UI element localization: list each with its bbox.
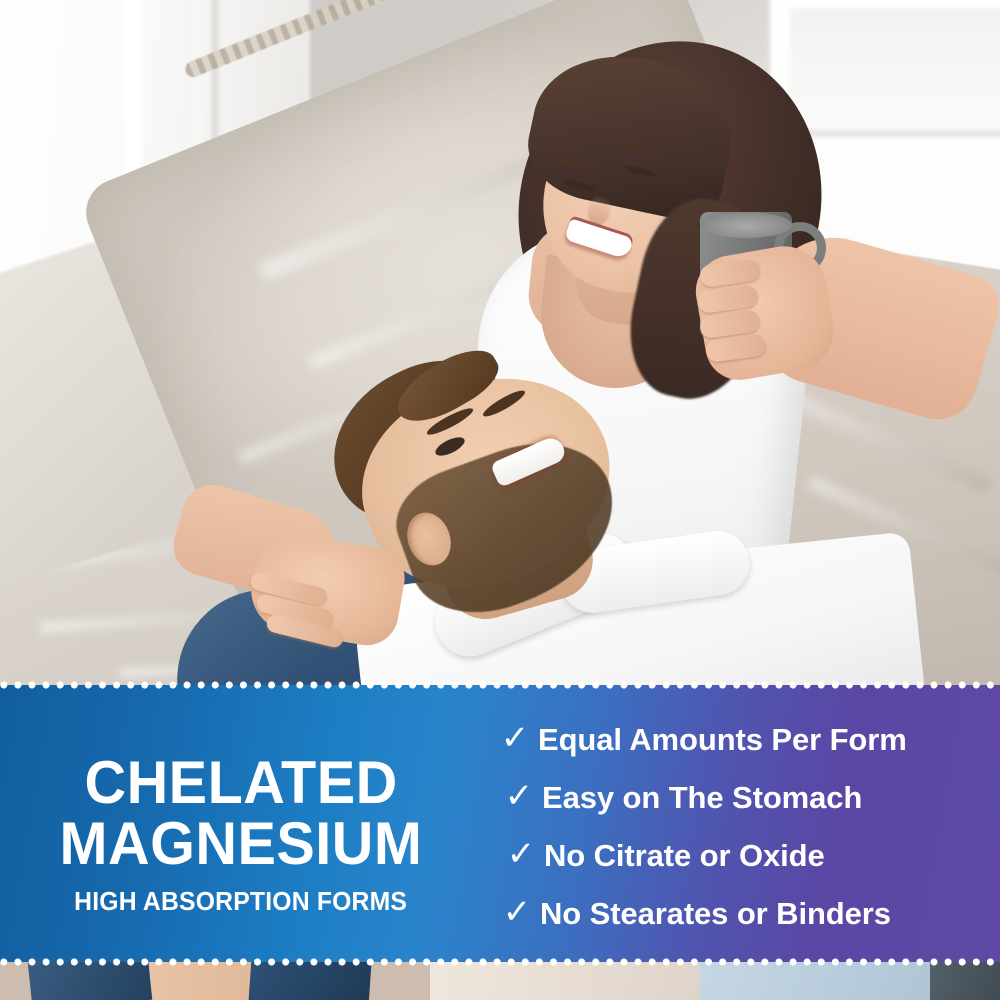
window-right-header xyxy=(790,8,1000,137)
product-title-line-2: MAGNESIUM xyxy=(60,813,423,874)
product-banner-image: CHELATED MAGNESIUM HIGH ABSORPTION FORMS… xyxy=(0,0,1000,1000)
benefit-item: ✓ Equal Amounts Per Form xyxy=(482,711,994,769)
checkmark-icon: ✓ xyxy=(494,895,540,929)
benefit-label: No Citrate or Oxide xyxy=(544,838,825,874)
benefit-label: Equal Amounts Per Form xyxy=(538,722,907,758)
benefit-item: ✓ Easy on The Stomach xyxy=(482,769,994,827)
checkmark-icon: ✓ xyxy=(498,837,544,871)
strip-jeans xyxy=(248,962,371,1000)
strip-light-jeans xyxy=(700,962,950,1000)
benefit-item: ✓ No Stearates or Binders xyxy=(482,885,994,943)
checkmark-icon: ✓ xyxy=(496,779,542,813)
product-title-line-1: CHELATED xyxy=(84,752,397,813)
headline-block: CHELATED MAGNESIUM HIGH ABSORPTION FORMS xyxy=(0,685,482,962)
strip-dark-fabric xyxy=(930,962,1000,1000)
product-subtitle: HIGH ABSORPTION FORMS xyxy=(75,888,408,917)
benefits-list: ✓ Equal Amounts Per Form ✓ Easy on The S… xyxy=(482,685,1000,962)
checkmark-icon: ✓ xyxy=(492,721,538,755)
strip-jeans xyxy=(28,962,153,1000)
benefit-item: ✓ No Citrate or Oxide xyxy=(482,827,994,885)
promo-banner: CHELATED MAGNESIUM HIGH ABSORPTION FORMS… xyxy=(0,685,1000,962)
strip-shirt xyxy=(430,962,730,1000)
benefit-label: No Stearates or Binders xyxy=(540,896,891,932)
bottom-photo-strip xyxy=(0,962,1000,1000)
coffee-mug-rim xyxy=(700,212,792,238)
benefit-label: Easy on The Stomach xyxy=(542,780,862,816)
